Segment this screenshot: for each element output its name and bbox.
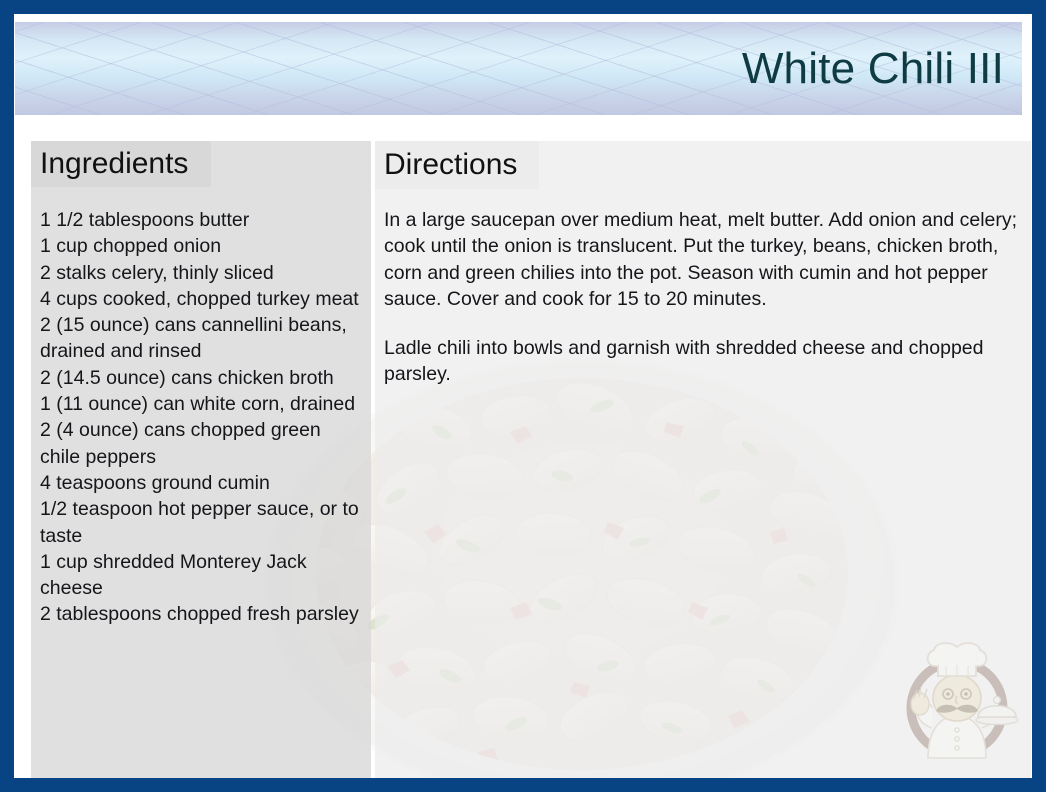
ingredients-body: 1 1/2 tablespoons butter 1 cup chopped o…	[40, 207, 361, 628]
list-item: 1 1/2 tablespoons butter	[40, 207, 361, 233]
directions-body: In a large saucepan over medium heat, me…	[384, 207, 1021, 388]
header-banner: White Chili III	[15, 22, 1022, 115]
list-item: 1 cup shredded Monterey Jack cheese	[40, 549, 361, 602]
ingredient-list: 1 1/2 tablespoons butter 1 cup chopped o…	[40, 207, 361, 628]
ingredients-heading: Ingredients	[40, 149, 188, 179]
ingredients-panel: Ingredients 1 1/2 tablespoons butter 1 c…	[31, 141, 371, 779]
direction-paragraph: In a large saucepan over medium heat, me…	[384, 207, 1021, 312]
list-item: 1 (11 ounce) can white corn, drained	[40, 391, 361, 417]
page-title: White Chili III	[742, 47, 1004, 91]
list-item: 2 (14.5 ounce) cans chicken broth	[40, 365, 361, 391]
direction-paragraph: Ladle chili into bowls and garnish with …	[384, 335, 1021, 388]
list-item: 4 cups cooked, chopped turkey meat	[40, 286, 361, 312]
list-item: 4 teaspoons ground cumin	[40, 470, 361, 496]
list-item: 2 stalks celery, thinly sliced	[40, 260, 361, 286]
ingredients-tab: Ingredients	[31, 141, 211, 187]
directions-heading: Directions	[384, 150, 517, 180]
list-item: 2 (4 ounce) cans chopped green chile pep…	[40, 417, 361, 470]
list-item: 2 (15 ounce) cans cannellini beans, drai…	[40, 312, 361, 365]
list-item: 2 tablespoons chopped fresh parsley	[40, 601, 361, 627]
recipe-slide: White Chili III	[0, 0, 1046, 792]
directions-panel: Directions In a large saucepan over medi…	[375, 141, 1031, 779]
directions-tab: Directions	[375, 141, 539, 189]
list-item: 1 cup chopped onion	[40, 233, 361, 259]
list-item: 1/2 teaspoon hot pepper sauce, or to tas…	[40, 496, 361, 549]
